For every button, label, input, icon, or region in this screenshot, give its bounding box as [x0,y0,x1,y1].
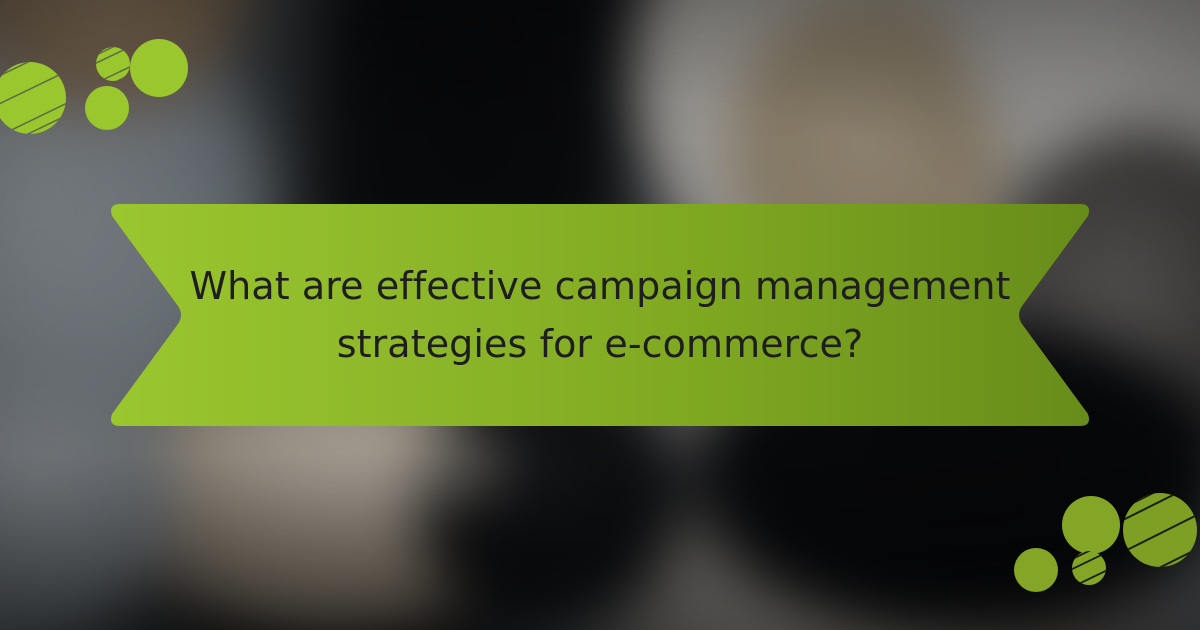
large-plain-circle [1062,496,1120,554]
banner-headline: What are effective campaign management s… [108,198,1092,432]
large-striped-circle [1115,462,1200,602]
circle-cluster-top-left [0,0,220,160]
headline-line-2: strategies for e-commerce? [337,315,864,373]
headline-line-1: What are effective campaign management [189,257,1010,315]
social-card: What are effective campaign management s… [0,0,1200,630]
medium-plain-circle [85,86,129,130]
medium-plain-circle [1014,548,1058,592]
large-striped-circle [0,22,86,162]
circle-cluster-bottom-right [1000,480,1200,630]
large-plain-circle [130,39,188,97]
